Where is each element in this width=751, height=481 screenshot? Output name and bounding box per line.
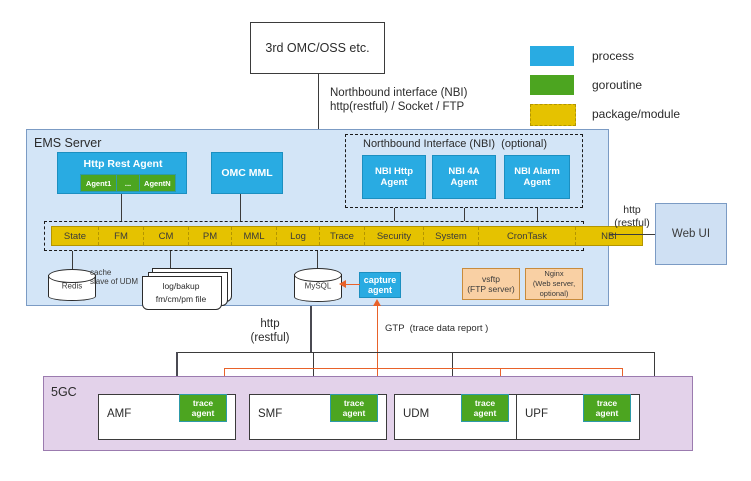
nbi-4a-agent-process[interactable]: NBI 4A Agent xyxy=(432,155,496,199)
omc-mml-process[interactable]: OMC MML xyxy=(211,152,283,194)
module-cm[interactable]: CM xyxy=(144,227,189,245)
capture-agent-label-line2: agent xyxy=(368,285,392,295)
module-security[interactable]: Security xyxy=(365,227,424,245)
trace-agent-udm[interactable]: trace agent xyxy=(461,394,509,422)
http-distribution-bus xyxy=(176,352,655,353)
gtp-trunk-vertical xyxy=(377,305,378,368)
bus-to-redis-connector xyxy=(72,251,73,270)
log-backup-label-line1: log/bakup xyxy=(142,281,220,291)
diagram-canvas: 3rd OMC/OSS etc. Northbound interface (N… xyxy=(0,0,751,481)
nf-label-amf: AMF xyxy=(107,408,131,420)
module-crontask[interactable]: CronTask xyxy=(479,227,576,245)
nbi-group-title: Northbound Interface (NBI) (optional) xyxy=(363,138,547,150)
nbi-alarm-agent-process[interactable]: NBI Alarm Agent xyxy=(504,155,570,199)
module-fm[interactable]: FM xyxy=(99,227,144,245)
web-ui-label: Web UI xyxy=(672,228,710,240)
http-rest-agent-label: Http Rest Agent xyxy=(58,156,188,171)
module-system[interactable]: System xyxy=(424,227,479,245)
capture-to-mysql-line xyxy=(345,284,360,285)
nbi-http-agent-label-line2: Agent xyxy=(381,177,408,188)
trace-agent-udm-line2: agent xyxy=(474,408,497,418)
web-ui-box[interactable]: Web UI xyxy=(655,203,727,265)
redis-datastore: Redis xyxy=(48,269,96,301)
legend-swatch-process xyxy=(530,46,574,66)
nf-box-amf[interactable]: AMF trace agent xyxy=(98,394,236,440)
trace-agent-smf[interactable]: trace agent xyxy=(330,394,378,422)
bus-to-mysql-connector xyxy=(317,251,318,268)
capture-agent-process[interactable]: capture agent xyxy=(359,272,401,298)
goroutine-ellipsis: ... xyxy=(116,174,138,192)
nginx-service-box: Nginx (Web server, optional) xyxy=(525,268,583,300)
gtp-link-label: GTP (trace data report ) xyxy=(385,323,488,334)
http-rest-agent-to-bus xyxy=(121,194,122,221)
http-rest-agent-process[interactable]: Http Rest Agent Agent1 ... AgentN xyxy=(57,152,187,194)
trace-agent-amf-line2: agent xyxy=(192,408,215,418)
nf-label-udm: UDM xyxy=(403,408,429,420)
redis-note-line2: slave of UDM xyxy=(90,277,138,286)
nginx-label-line1: Nginx xyxy=(544,269,563,279)
nf-label-smf: SMF xyxy=(258,408,282,420)
goroutine-agentn[interactable]: AgentN xyxy=(139,174,176,192)
nginx-label-line2: (Web server, xyxy=(533,279,575,289)
ems-server-title: EMS Server xyxy=(34,136,101,150)
nbi-alarm-agent-label-line2: Agent xyxy=(524,177,551,188)
core-5gc-title: 5GC xyxy=(51,385,77,399)
capture-to-mysql-arrowhead xyxy=(339,280,346,288)
nbi-http-agent-to-bus xyxy=(394,208,395,221)
module-mml[interactable]: MML xyxy=(232,227,277,245)
trace-agent-upf-line2: agent xyxy=(596,408,619,418)
third-party-oss-label: 3rd OMC/OSS etc. xyxy=(265,41,369,55)
nbi-4a-agent-to-bus xyxy=(464,208,465,221)
omc-mml-label: OMC MML xyxy=(221,167,272,179)
third-party-oss-box: 3rd OMC/OSS etc. xyxy=(250,22,385,74)
gtp-to-capture-arrowhead xyxy=(373,299,381,306)
mysql-cylinder-top xyxy=(294,268,342,282)
webui-link-label-line2: (restful) xyxy=(605,217,659,229)
ems-to-webui-connector xyxy=(609,234,655,235)
legend-label-package-module: package/module xyxy=(592,107,680,121)
module-trace[interactable]: Trace xyxy=(320,227,365,245)
capture-agent-label-line1: capture xyxy=(364,275,397,285)
nbi-4a-agent-label-line1: NBI 4A xyxy=(448,166,479,177)
legend: process goroutine package/module xyxy=(530,42,740,122)
redis-label: Redis xyxy=(48,281,96,290)
oss-to-ems-connector xyxy=(318,74,319,129)
trace-agent-udm-line1: trace xyxy=(475,398,495,408)
redis-note-line1: cache xyxy=(90,268,111,277)
nf-box-smf[interactable]: SMF trace agent xyxy=(249,394,387,440)
nbi-link-label-line1: Northbound interface (NBI) xyxy=(330,86,467,100)
vsftp-label-line1: vsftp xyxy=(482,274,500,284)
nbi-alarm-agent-to-bus xyxy=(537,208,538,221)
bus-to-files-connector xyxy=(170,251,171,268)
module-bus: State FM CM PM MML Log Trace Security Sy… xyxy=(51,226,643,246)
trace-agent-smf-line1: trace xyxy=(344,398,364,408)
trace-agent-upf[interactable]: trace agent xyxy=(583,394,631,422)
legend-swatch-package-module xyxy=(530,104,576,126)
nbi-link-label-line2: http(restful) / Socket / FTP xyxy=(330,100,464,114)
legend-swatch-goroutine xyxy=(530,75,574,95)
http-rest-agent-goroutines: Agent1 ... AgentN xyxy=(80,174,176,190)
module-pm[interactable]: PM xyxy=(189,227,232,245)
http-link-label-line2: (restful) xyxy=(240,332,300,344)
log-backup-files: log/bakup fm/cm/pm file xyxy=(142,268,232,310)
nbi-4a-agent-label-line2: Agent xyxy=(451,177,478,188)
module-log[interactable]: Log xyxy=(277,227,320,245)
mysql-datastore: MySQL xyxy=(294,268,342,302)
legend-label-goroutine: goroutine xyxy=(592,78,642,92)
http-link-label-line1: http xyxy=(240,318,300,330)
omc-mml-to-bus xyxy=(240,194,241,221)
vsftp-label-line2: (FTP server) xyxy=(467,284,515,294)
trace-agent-amf[interactable]: trace agent xyxy=(179,394,227,422)
nbi-http-agent-process[interactable]: NBI Http Agent xyxy=(362,155,426,199)
nginx-label-line3: optional) xyxy=(540,289,569,299)
nf-box-udm[interactable]: UDM trace agent xyxy=(394,394,518,440)
trace-agent-upf-line1: trace xyxy=(597,398,617,408)
log-backup-label-line2: fm/cm/pm file xyxy=(142,294,220,304)
nf-label-upf: UPF xyxy=(525,408,548,420)
http-trunk-vertical xyxy=(310,306,312,353)
gtp-distribution-bus xyxy=(224,368,623,369)
legend-label-process: process xyxy=(592,49,634,63)
module-state[interactable]: State xyxy=(52,227,99,245)
nbi-alarm-agent-label-line1: NBI Alarm xyxy=(514,166,560,177)
webui-link-label-line1: http xyxy=(609,204,655,216)
module-nbi[interactable]: NBI xyxy=(576,227,642,245)
trace-agent-smf-line2: agent xyxy=(343,408,366,418)
vsftp-service-box: vsftp (FTP server) xyxy=(462,268,520,300)
goroutine-agent1[interactable]: Agent1 xyxy=(80,174,116,192)
nbi-http-agent-label-line1: NBI Http xyxy=(375,166,413,177)
trace-agent-amf-line1: trace xyxy=(193,398,213,408)
mysql-label: MySQL xyxy=(294,281,342,290)
nf-box-upf[interactable]: UPF trace agent xyxy=(516,394,640,440)
